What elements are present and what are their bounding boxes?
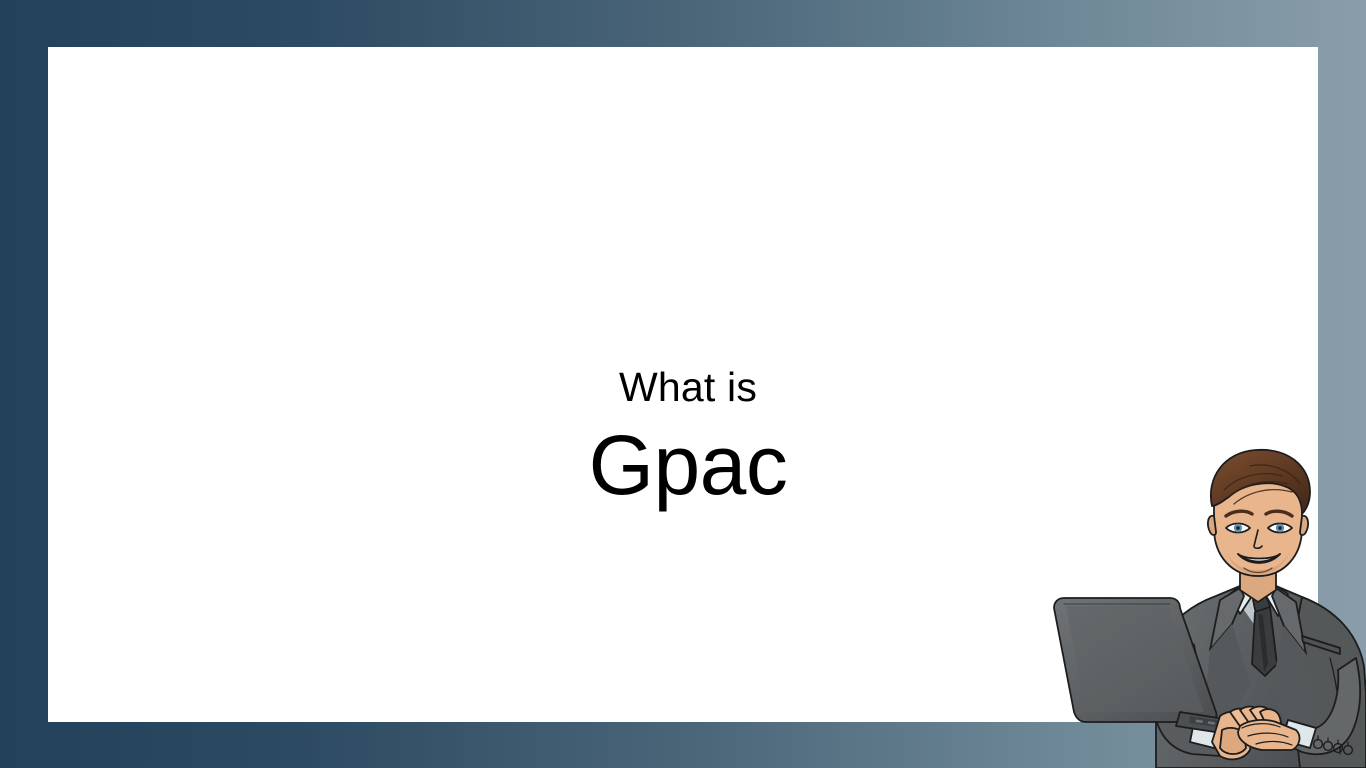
slide-root: What is Gpac xyxy=(0,0,1366,768)
slide-title-line-2: Gpac xyxy=(53,423,1323,507)
slide-content-card: What is Gpac xyxy=(48,47,1318,722)
slide-title-line-1: What is xyxy=(53,367,1323,408)
